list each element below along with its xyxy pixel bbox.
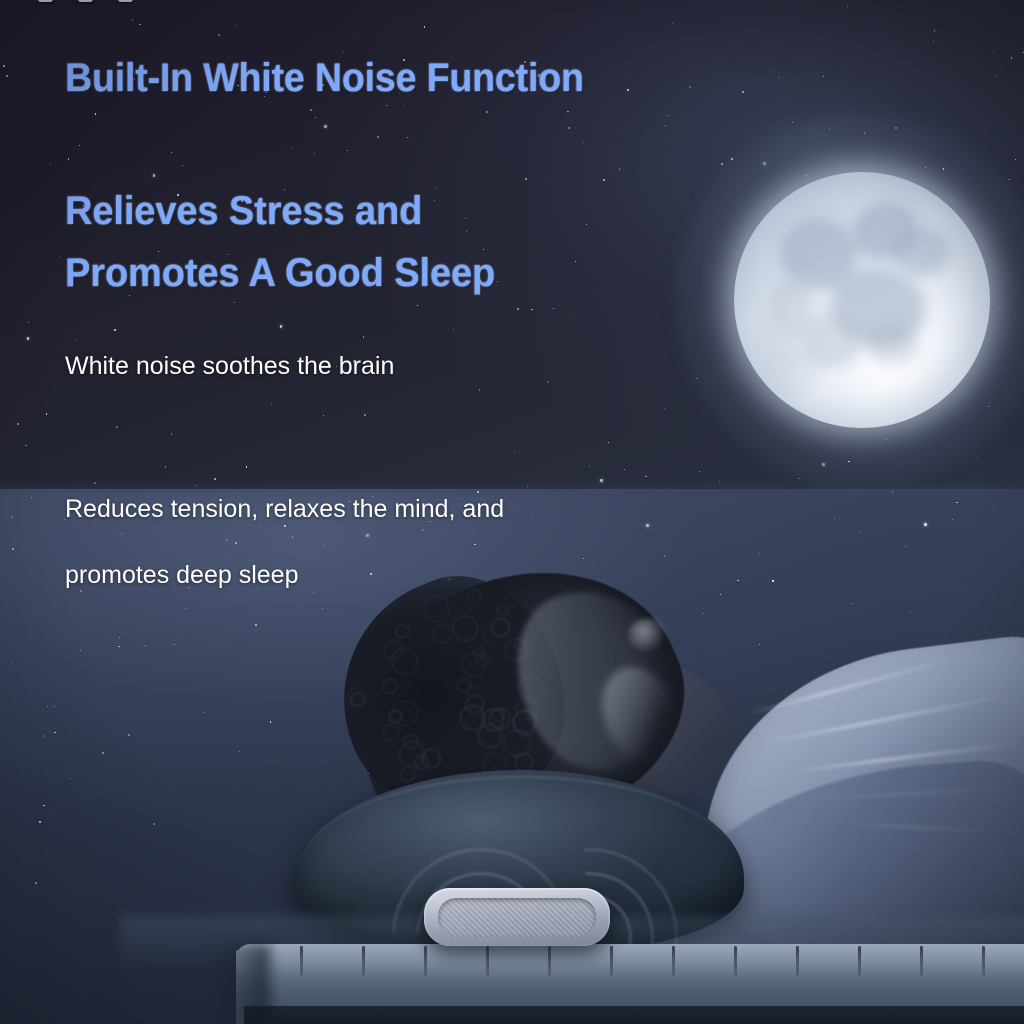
subheadline-line-2: Promotes A Good Sleep (65, 242, 495, 304)
product-feature-slide: Built-In White Noise Function Relieves S… (0, 0, 1024, 1024)
hair-curl (448, 611, 483, 646)
benefit-line-1: Reduces tension, relaxes the mind, and (65, 476, 504, 542)
hair-curl (392, 622, 411, 641)
bed-skirt (244, 1006, 1024, 1024)
benefit-text-secondary: Reduces tension, relaxes the mind, and p… (65, 476, 504, 608)
benefit-text-primary: White noise soothes the brain (65, 352, 394, 381)
device-button[interactable] (38, 0, 53, 2)
benefit-line-2: promotes deep sleep (65, 542, 504, 608)
nose-highlight (628, 618, 668, 652)
bed-left-shadow (210, 944, 270, 1024)
device-button[interactable] (78, 0, 93, 2)
mattress-quilted-top (236, 944, 1024, 978)
subheadline-line-1: Relieves Stress and (65, 180, 495, 242)
moon-disc (734, 172, 990, 428)
device-button-row[interactable] (38, 0, 134, 3)
device-speaker-grill (438, 898, 596, 937)
moon-limb-highlight (734, 172, 990, 428)
page-title: Built-In White Noise Function (65, 56, 584, 101)
hair-curl (379, 676, 401, 698)
device-button[interactable] (118, 0, 133, 2)
full-moon-icon (734, 172, 990, 428)
hair-curl (344, 683, 371, 710)
white-noise-device[interactable] (424, 888, 610, 946)
subheadline: Relieves Stress and Promotes A Good Slee… (65, 180, 495, 304)
